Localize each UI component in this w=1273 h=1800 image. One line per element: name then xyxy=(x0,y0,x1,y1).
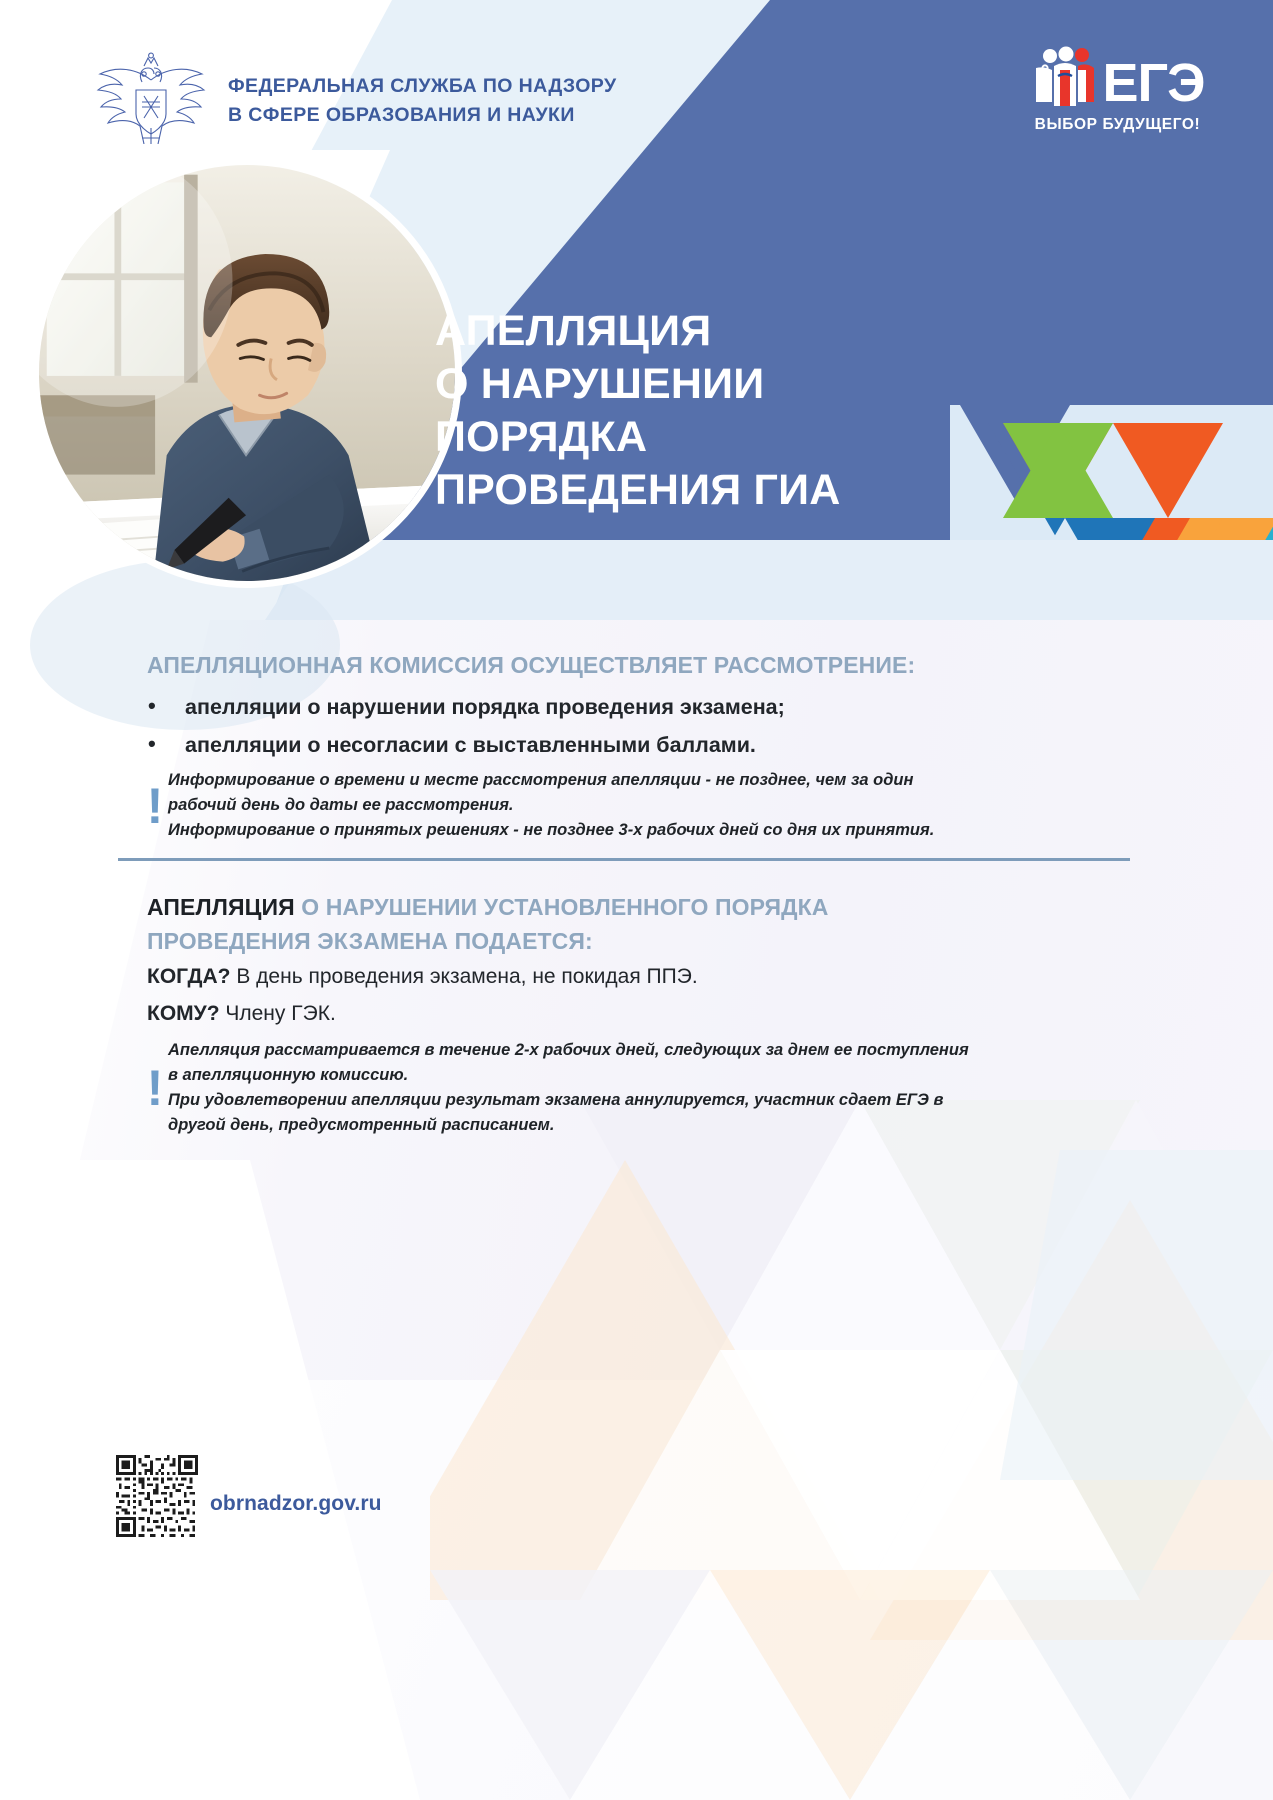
ege-people-logo xyxy=(1030,40,1100,110)
section1-bullet-list: апелляции о нарушении порядка проведения… xyxy=(147,690,1047,766)
title-line-2: О НАРУШЕНИИ xyxy=(435,358,995,411)
section1-heading: АПЕЛЛЯЦИОННАЯ КОМИССИЯ ОСУЩЕСТВЛЯЕТ РАСС… xyxy=(147,648,1047,682)
note-line: При удовлетворении апелляции результат э… xyxy=(168,1088,972,1138)
question-when-value: В день проведения экзамена, не покидая П… xyxy=(231,965,698,988)
organization-title: ФЕДЕРАЛЬНАЯ СЛУЖБА ПО НАДЗОРУ В СФЕРЕ ОБ… xyxy=(228,72,708,130)
title-line-3: ПОРЯДКА xyxy=(435,411,995,464)
section2-note-body: Апелляция рассматривается в течение 2-х … xyxy=(168,1038,972,1138)
question-whom-value: Члену ГЭК. xyxy=(220,1002,336,1025)
section-divider xyxy=(118,858,1130,861)
section1-note: ! Информирование о времени и месте рассм… xyxy=(142,768,972,843)
section2-note: ! Апелляция рассматривается в течение 2-… xyxy=(142,1038,972,1138)
note-line: Информирование о принятых решениях - не … xyxy=(168,818,972,843)
ege-logo-text: ЕГЭ xyxy=(1102,56,1204,110)
note-line: Апелляция рассматривается в течение 2-х … xyxy=(168,1038,972,1088)
section1-note-body: Информирование о времени и месте рассмот… xyxy=(168,768,972,843)
website-url[interactable]: obrnadzor.gov.ru xyxy=(210,1492,382,1516)
section2-heading-bold: АПЕЛЛЯЦИЯ xyxy=(147,894,295,920)
triangle-pattern-lower xyxy=(430,1100,1273,1800)
question-whom: КОМУ? Члену ГЭК. xyxy=(147,997,336,1031)
lower-wash xyxy=(0,1380,1273,1800)
question-when: КОГДА? В день проведения экзамена, не по… xyxy=(147,960,698,994)
section2-heading: АПЕЛЛЯЦИЯ О НАРУШЕНИИ УСТАНОВЛЕННОГО ПОР… xyxy=(147,890,977,958)
question-whom-label: КОМУ? xyxy=(147,1002,220,1025)
exclamation-mark-icon: ! xyxy=(142,785,168,827)
org-title-line1: ФЕДЕРАЛЬНАЯ СЛУЖБА ПО НАДЗОРУ xyxy=(228,72,708,101)
left-diagonal-pale2 xyxy=(0,1160,420,1800)
poster-page: ФЕДЕРАЛЬНАЯ СЛУЖБА ПО НАДЗОРУ В СФЕРЕ ОБ… xyxy=(0,0,1273,1800)
title-line-4: ПРОВЕДЕНИЯ ГИА xyxy=(435,464,995,517)
list-item: апелляции о несогласии с выставленными б… xyxy=(147,728,1047,762)
right-pale-column xyxy=(1000,1150,1273,1480)
ege-tagline: ВЫБОР БУДУЩЕГО! xyxy=(1010,116,1225,134)
triangle-pattern-hero xyxy=(950,405,1273,655)
exclamation-mark-icon: ! xyxy=(142,1067,168,1109)
list-item: апелляции о нарушении порядка проведения… xyxy=(147,690,1047,724)
question-when-label: КОГДА? xyxy=(147,965,231,988)
ege-logo: ЕГЭ ВЫБОР БУДУЩЕГО! xyxy=(1010,38,1225,134)
note-line: Информирование о времени и месте рассмот… xyxy=(168,768,972,818)
org-title-line2: В СФЕРЕ ОБРАЗОВАНИЯ И НАУКИ xyxy=(228,101,708,130)
rosobrnadzor-eagle-emblem xyxy=(92,52,210,144)
qr-code-icon xyxy=(116,1455,198,1537)
page-title: АПЕЛЛЯЦИЯ О НАРУШЕНИИ ПОРЯДКА ПРОВЕДЕНИЯ… xyxy=(435,305,995,517)
student-photo xyxy=(32,158,462,588)
title-line-1: АПЕЛЛЯЦИЯ xyxy=(435,305,995,358)
student-writing-exam-photo xyxy=(39,165,455,581)
